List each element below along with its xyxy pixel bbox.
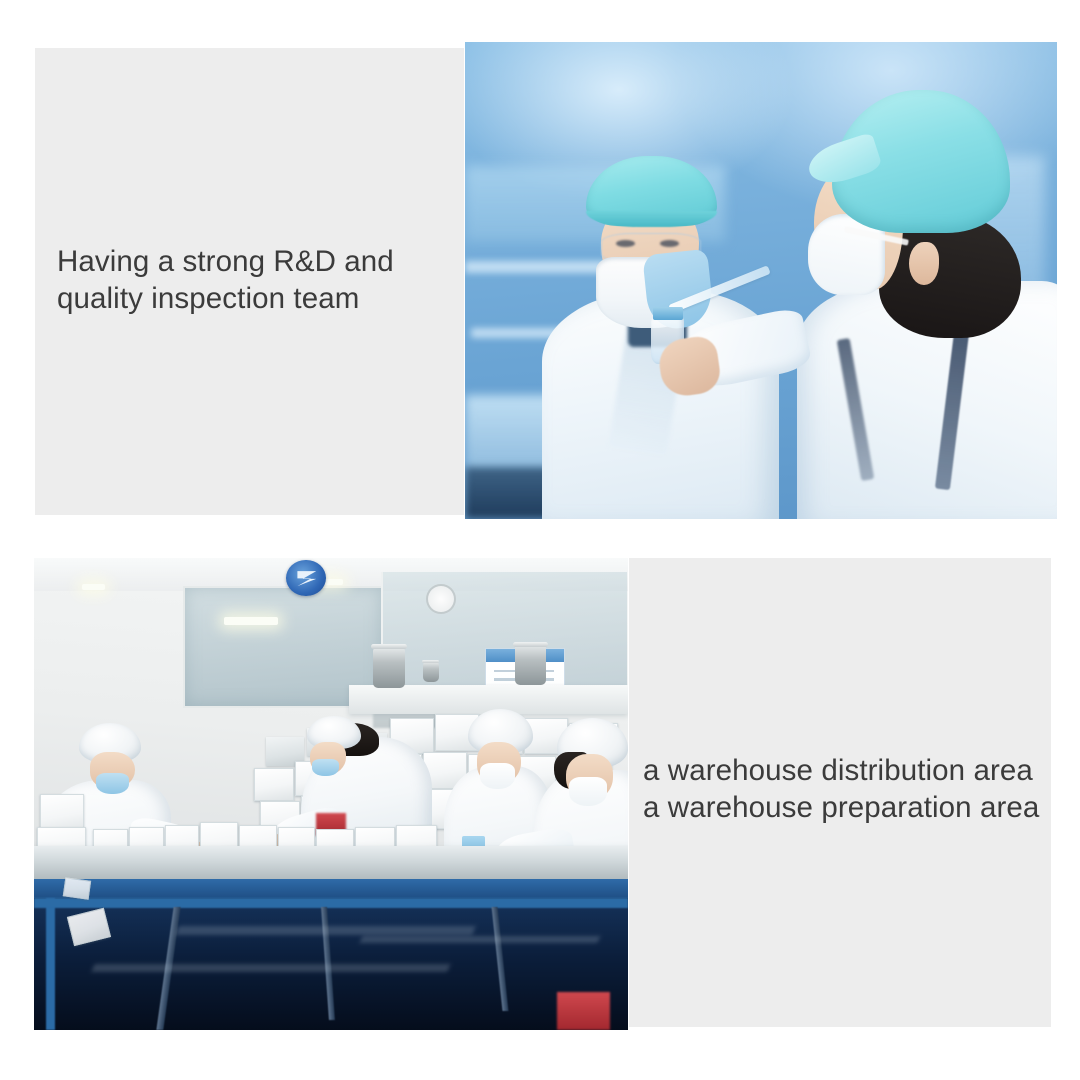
warehouse-packing-photo [34,558,628,1030]
bottom-caption-line-1: a warehouse distribution area [643,752,1039,789]
packer-2-mask [312,759,339,776]
steel-pot-1 [373,648,406,688]
steel-table-edge [34,879,628,898]
ceiling-light-2 [82,584,106,590]
lab-inspection-photo [465,42,1057,519]
packer-1-mask [96,773,129,794]
blue-circular-sign [286,560,325,596]
loose-paper-2 [63,877,91,899]
lab-worker-right-ear [909,242,939,285]
steel-pot-3 [423,662,438,682]
table-frame-left [46,898,56,1030]
top-caption-text: Having a strong R&D and quality inspecti… [57,243,394,317]
carton-mid-1 [254,768,295,801]
floor-reflection-3 [360,936,600,943]
steel-pot-2 [515,645,546,685]
bottom-caption-line-2: a warehouse preparation area [643,789,1039,826]
top-caption-line-2: quality inspection team [57,280,394,317]
lab-vial-cap [653,307,683,319]
floor-reflection-1 [175,926,475,935]
packer-3-mask [480,763,516,789]
red-floor-item [557,992,610,1030]
back-counter [349,685,628,713]
steel-table-top [34,846,628,881]
table-frame-rail [34,898,628,908]
slide-canvas: Having a strong R&D and quality inspecti… [0,0,1080,1080]
floor-reflection-2 [92,964,451,972]
top-caption-line-1: Having a strong R&D and [57,243,394,280]
ceiling-light-1 [224,617,277,625]
bottom-caption-text: a warehouse distribution area a warehous… [643,752,1039,826]
packer-4-mask [569,777,608,805]
